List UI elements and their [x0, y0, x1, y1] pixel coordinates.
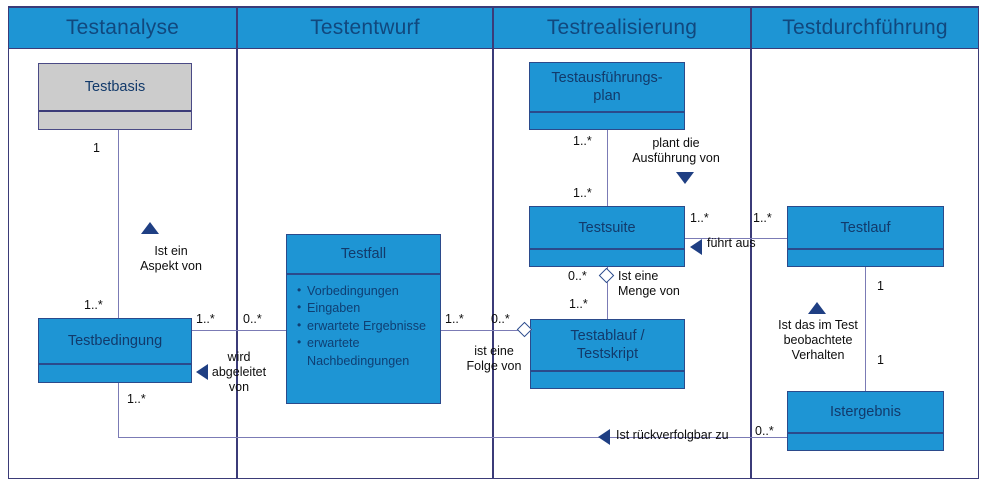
class-title-testablauf: Testablauf / Testskript — [531, 320, 684, 370]
class-title-istergebnis: Istergebnis — [788, 392, 943, 432]
relationship-label-beobachtete-verhalten: Ist das im Test beobachtete Verhalten — [770, 318, 866, 363]
relationship-label-line-1: Ist eine — [618, 269, 706, 284]
attribute-item-continuation: Nachbedingungen — [297, 353, 434, 370]
class-body-testausfuehrungsplan — [530, 113, 684, 131]
cardinality-testsuite-top: 1..* — [573, 186, 592, 200]
class-title-testfall: Testfall — [287, 235, 440, 273]
connector-testbedingung-testfall — [190, 330, 286, 331]
relationship-label-line-1: wird — [205, 350, 273, 365]
triangle-up-icon-verhalten — [808, 302, 826, 314]
class-title-line-2: plan — [593, 87, 620, 105]
cardinality-testfall-right: 1..* — [445, 312, 464, 326]
relationship-label-aspekt-von: Ist ein Aspekt von — [126, 244, 216, 274]
relationship-label-line-1: Ist das im Test — [770, 318, 866, 333]
class-body-testsuite — [530, 250, 684, 267]
connector-trace-vertical-left — [118, 382, 119, 438]
relationship-label-line-3: von — [205, 380, 273, 395]
relationship-label-line-1: führt aus — [707, 236, 763, 251]
cardinality-testbedingung-right: 1..* — [196, 312, 215, 326]
triangle-down-icon-plant — [676, 172, 694, 184]
relationship-label-line-2: Aspekt von — [126, 259, 216, 274]
relationship-label-line-1: Ist ein — [126, 244, 216, 259]
lane-divider-2 — [492, 7, 494, 479]
cardinality-testbedingung-top: 1..* — [84, 298, 103, 312]
triangle-left-icon-fuehrt-aus — [690, 239, 702, 255]
triangle-up-icon-aspekt — [141, 222, 159, 234]
class-box-testbedingung[interactable]: Testbedingung — [38, 318, 192, 383]
class-body-testbedingung — [39, 365, 191, 382]
class-box-testsuite[interactable]: Testsuite — [529, 206, 685, 267]
cardinality-testlauf-left: 1..* — [753, 211, 772, 225]
class-title-line-2: Testskript — [577, 345, 638, 363]
relationship-label-line-1: Ist rückverfolgbar zu — [616, 428, 756, 443]
lane-divider-1 — [236, 7, 238, 479]
relationship-label-line-1: ist eine — [461, 344, 527, 359]
relationship-label-line-3: Verhalten — [770, 348, 866, 363]
lane-title-testentwurf: Testentwurf — [310, 16, 420, 40]
cardinality-istergebnis-top: 1 — [877, 353, 884, 367]
class-box-istergebnis[interactable]: Istergebnis — [787, 391, 944, 451]
class-title-testlauf: Testlauf — [788, 207, 943, 248]
attribute-item: Vorbedingungen — [297, 283, 434, 300]
class-box-testlauf[interactable]: Testlauf — [787, 206, 944, 267]
cardinality-testablauf-top: 1..* — [569, 297, 588, 311]
class-title-testsuite: Testsuite — [530, 207, 684, 248]
relationship-label-fuehrt-aus: führt aus — [707, 236, 763, 251]
relationship-label-folge-von: ist eine Folge von — [461, 344, 527, 374]
class-title-testbasis: Testbasis — [39, 64, 191, 110]
class-body-testlauf — [788, 250, 943, 267]
cardinality-testbedingung-bottom: 1..* — [127, 392, 146, 406]
class-body-testbasis — [39, 112, 191, 130]
lane-title-testanalyse: Testanalyse — [66, 16, 179, 40]
attribute-item: erwartete Ergebnisse — [297, 318, 434, 335]
relationship-label-rueckverfolgbar-zu: Ist rückverfolgbar zu — [616, 428, 756, 443]
lane-header-testanalyse: Testanalyse — [8, 7, 237, 49]
class-title-testausfuehrungsplan: Testausführungs- plan — [530, 63, 684, 111]
class-box-testausfuehrungsplan[interactable]: Testausführungs- plan — [529, 62, 685, 130]
class-title-testbedingung: Testbedingung — [39, 319, 191, 363]
relationship-label-line-2: abgeleitet — [205, 365, 273, 380]
relationship-label-line-2: Ausführung von — [616, 151, 736, 166]
class-box-testbasis[interactable]: Testbasis — [38, 63, 192, 130]
cardinality-testausfuehrungsplan-end: 1..* — [573, 134, 592, 148]
cardinality-testbasis-end: 1 — [93, 141, 100, 155]
cardinality-istergebnis-left: 0..* — [755, 424, 774, 438]
relationship-label-abgeleitet-von: wird abgeleitet von — [205, 350, 273, 395]
class-attributes-testfall: Vorbedingungen Eingaben erwartete Ergebn… — [287, 275, 440, 375]
cardinality-testlauf-bottom: 1 — [877, 279, 884, 293]
connector-plan-testsuite — [607, 130, 608, 212]
class-box-testablauf[interactable]: Testablauf / Testskript — [530, 319, 685, 389]
lane-header-testentwurf: Testentwurf — [237, 7, 493, 49]
attribute-item: erwartete — [297, 335, 434, 352]
relationship-label-line-2: Menge von — [618, 284, 706, 299]
relationship-label-menge-von: Ist eine Menge von — [618, 269, 706, 299]
cardinality-testfall-left: 0..* — [243, 312, 262, 326]
triangle-left-icon-rueckverfolgbar — [598, 429, 610, 445]
lane-title-testdurchfuehrung: Testdurchführung — [782, 16, 947, 40]
relationship-label-line-2: Folge von — [461, 359, 527, 374]
relationship-label-line-1: plant die — [616, 136, 736, 151]
lane-header-testrealisierung: Testrealisierung — [493, 7, 751, 49]
relationship-label-plant-die-ausfuehrung: plant die Ausführung von — [616, 136, 736, 166]
lane-title-testrealisierung: Testrealisierung — [547, 16, 697, 40]
cardinality-testsuite-right: 1..* — [690, 211, 709, 225]
class-box-testfall[interactable]: Testfall Vorbedingungen Eingaben erwarte… — [286, 234, 441, 404]
relationship-label-line-2: beobachtete — [770, 333, 866, 348]
uml-swimlane-diagram: Testanalyse Testentwurf Testrealisierung… — [0, 0, 987, 487]
class-title-line-1: Testablauf / — [570, 327, 644, 345]
cardinality-testsuite-bottom: 0..* — [568, 269, 587, 283]
class-title-line-1: Testausführungs- — [551, 69, 662, 87]
attribute-item: Eingaben — [297, 300, 434, 317]
class-body-testablauf — [531, 372, 684, 390]
lane-header-testdurchfuehrung: Testdurchführung — [751, 7, 979, 49]
cardinality-testablauf-left: 0..* — [491, 312, 510, 326]
class-body-istergebnis — [788, 434, 943, 451]
connector-testbasis-testbedingung — [118, 130, 119, 320]
